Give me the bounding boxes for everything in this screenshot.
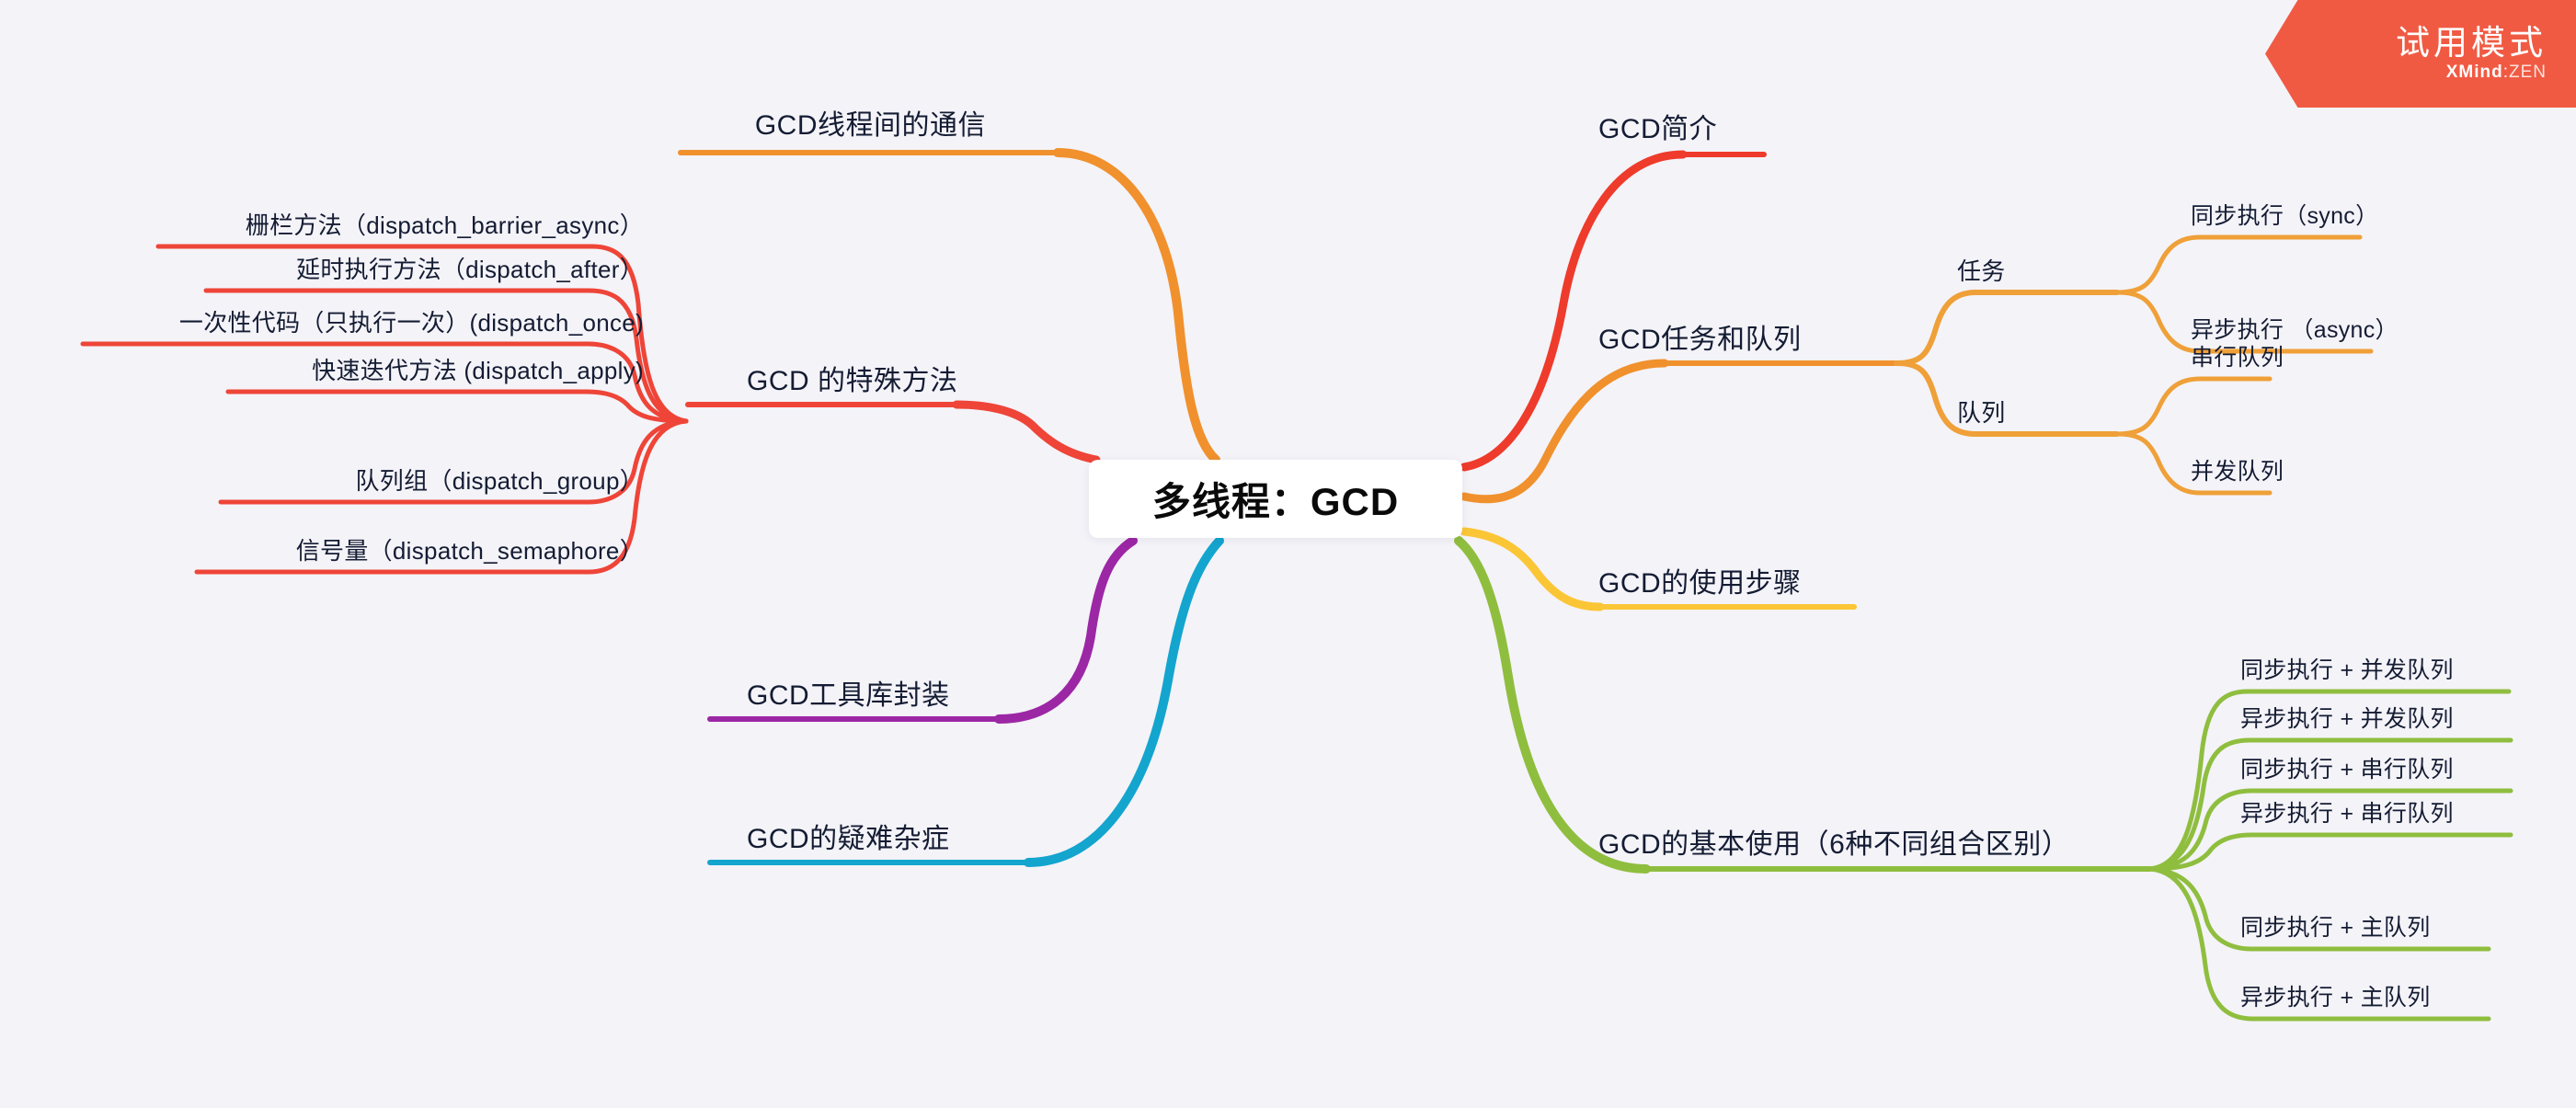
node-sync-main-queue[interactable]: 同步执行 + 主队列 (2240, 917, 2431, 940)
node-task[interactable]: 任务 (1957, 259, 2006, 283)
node-dispatch-barrier-async[interactable]: 栅栏方法（dispatch_barrier_async） (246, 213, 644, 237)
node-gcd-introduction[interactable]: GCD简介 (1598, 116, 1717, 143)
node-async-concurrent[interactable]: 异步执行 + 并发队列 (2240, 708, 2454, 731)
root-node-label: 多线程：GCD (1152, 471, 1399, 527)
node-sync-execution[interactable]: 同步执行（sync） (2191, 205, 2378, 228)
node-concurrent-queue[interactable]: 并发队列 (2191, 461, 2284, 484)
node-queue[interactable]: 队列 (1957, 401, 2006, 425)
xmind-brand-label: XMind:ZEN (2265, 63, 2547, 83)
node-gcd-basic-usage[interactable]: GCD的基本使用（6种不同组合区别） (1598, 831, 2069, 859)
wire-gcd-intro (1464, 154, 1764, 467)
node-gcd-difficult-problems[interactable]: GCD的疑难杂症 (747, 826, 950, 853)
node-dispatch-after[interactable]: 延时执行方法（dispatch_after） (296, 257, 644, 281)
mindmap-canvas[interactable]: 多线程：GCD GCD线程间的通信 GCD 的特殊方法 GCD工具库封装 GCD… (0, 0, 2576, 1108)
xmind-brand-bold: XMind (2446, 63, 2503, 82)
node-gcd-usage-steps[interactable]: GCD的使用步骤 (1598, 570, 1802, 598)
node-dispatch-apply[interactable]: 快速迭代方法 (dispatch_apply) (312, 359, 644, 383)
root-node[interactable]: 多线程：GCD (1089, 460, 1462, 538)
node-serial-queue[interactable]: 串行队列 (2191, 347, 2284, 370)
node-dispatch-semaphore[interactable]: 信号量（dispatch_semaphore） (296, 539, 644, 563)
trial-mode-badge[interactable]: 试用模式 XMind:ZEN (2265, 0, 2576, 108)
node-gcd-tasks-and-queues[interactable]: GCD任务和队列 (1598, 326, 1802, 354)
wire-gcd-thread-comm (681, 153, 1216, 460)
node-gcd-thread-communication[interactable]: GCD线程间的通信 (755, 112, 986, 140)
node-gcd-special-methods[interactable]: GCD 的特殊方法 (747, 368, 958, 395)
node-async-main-queue[interactable]: 异步执行 + 主队列 (2240, 987, 2431, 1010)
node-dispatch-once[interactable]: 一次性代码（只执行一次）(dispatch_once) (179, 311, 644, 335)
node-async-execution[interactable]: 异步执行 （async） (2191, 319, 2399, 342)
node-sync-concurrent[interactable]: 同步执行 + 并发队列 (2240, 659, 2454, 682)
node-sync-serial[interactable]: 同步执行 + 串行队列 (2240, 759, 2454, 782)
wire-gcd-special-methods (83, 246, 1096, 572)
node-dispatch-group[interactable]: 队列组（dispatch_group） (356, 469, 645, 493)
node-async-serial[interactable]: 异步执行 + 串行队列 (2240, 803, 2454, 826)
xmind-brand-light: ZEN (2509, 63, 2547, 82)
trial-mode-label: 试用模式 (2265, 15, 2547, 64)
node-gcd-toolkit-encapsulation[interactable]: GCD工具库封装 (747, 682, 950, 710)
